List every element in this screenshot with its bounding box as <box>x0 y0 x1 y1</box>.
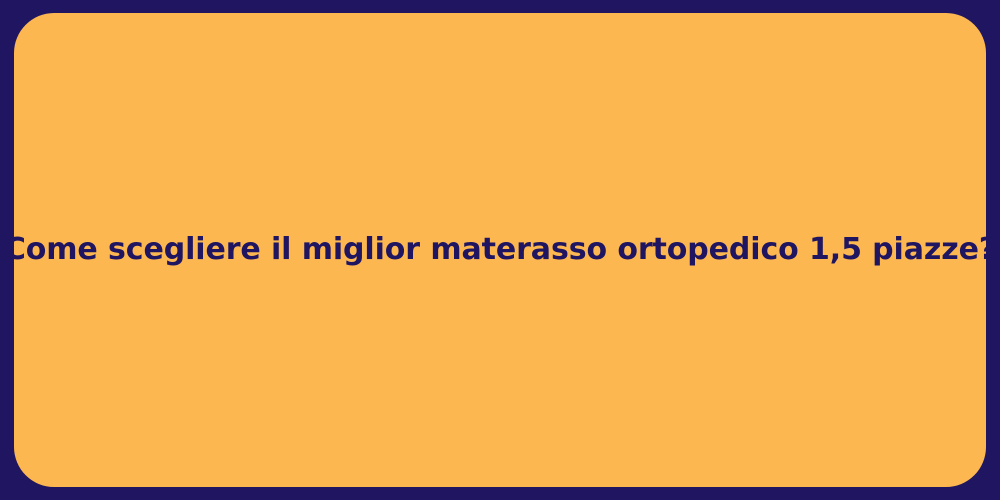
article-title-card: Come scegliere il miglior materasso orto… <box>14 13 986 487</box>
page-frame: Come scegliere il miglior materasso orto… <box>0 0 1000 500</box>
article-title: Come scegliere il miglior materasso orto… <box>4 231 996 269</box>
